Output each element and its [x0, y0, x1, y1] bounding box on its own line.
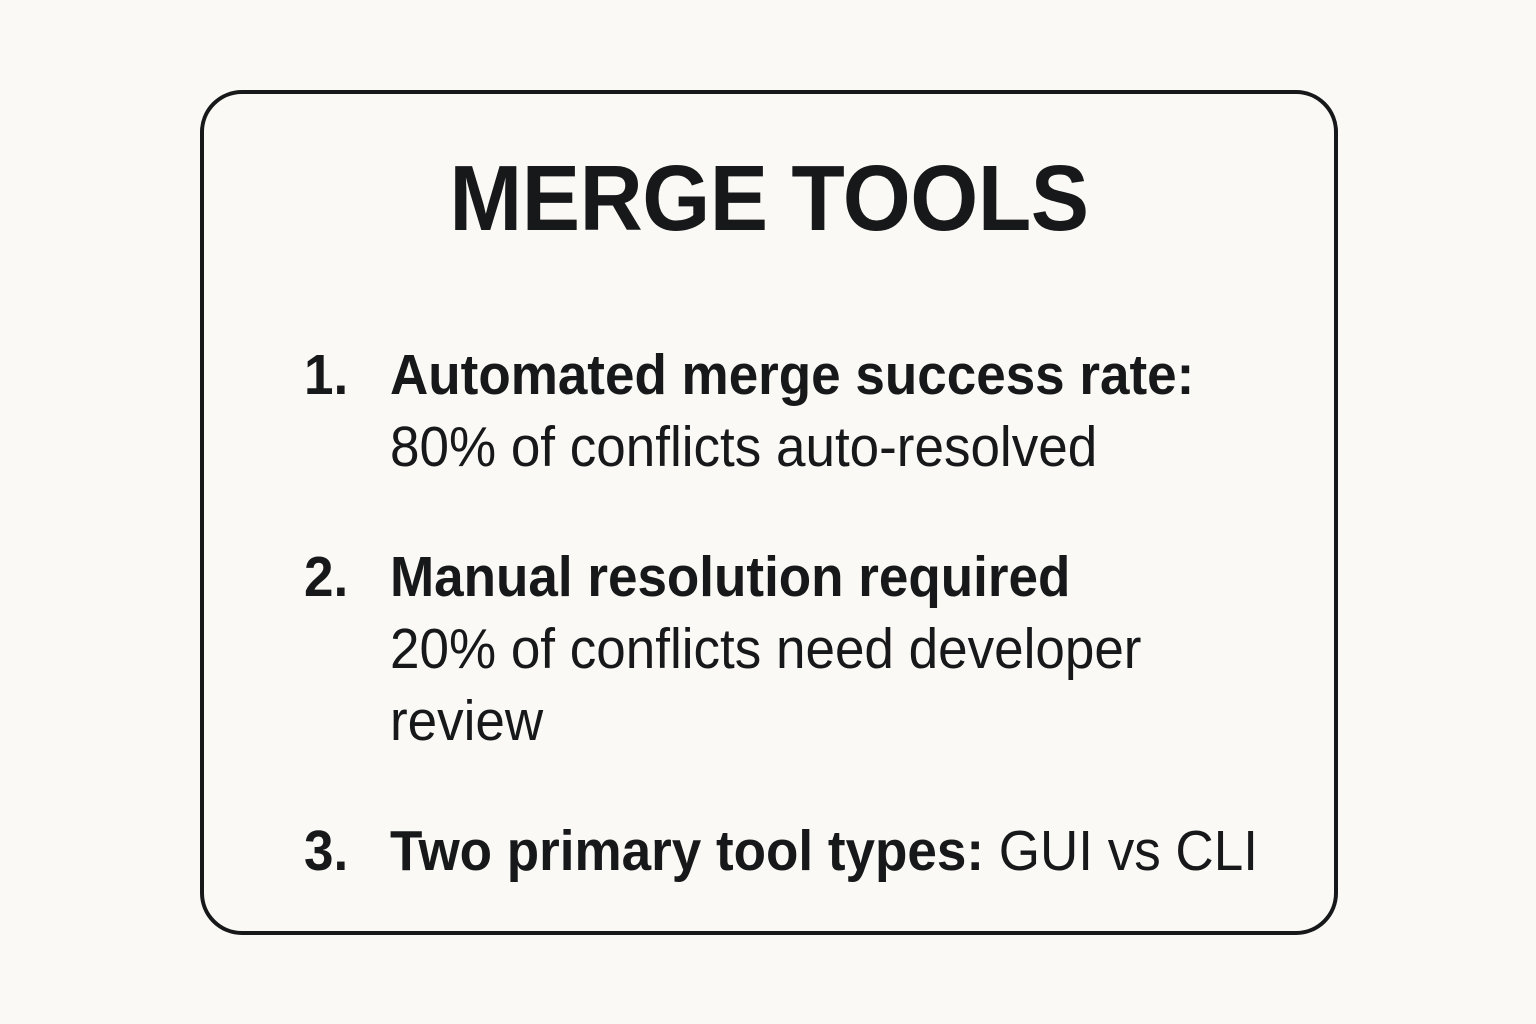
list-item-text: Manual resolution required 20% of confli…: [390, 541, 1304, 757]
list-item-detail: 80% of conflicts auto-resolved: [390, 411, 1304, 483]
list-item-heading: Manual resolution required: [390, 545, 1070, 609]
list-item-body: Two primary tool types: GUI vs CLI: [390, 815, 1304, 887]
list-item-heading: Two primary tool types:: [390, 819, 984, 883]
list-item-text: Automated merge success rate: 80% of con…: [390, 339, 1304, 483]
page-title: MERGE TOOLS: [238, 152, 1300, 245]
content-card: MERGE TOOLS 1. Automated merge success r…: [200, 90, 1338, 935]
list-item-number: 2.: [304, 541, 384, 613]
list-item-text: Two primary tool types: GUI vs CLI: [390, 815, 1304, 887]
slide-canvas: MERGE TOOLS 1. Automated merge success r…: [0, 0, 1536, 1024]
list-item: 1. Automated merge success rate: 80% of …: [304, 339, 1304, 483]
list-item-number: 3.: [304, 815, 384, 887]
list-item: 2. Manual resolution required 20% of con…: [304, 541, 1304, 757]
list-item-heading: Automated merge success rate:: [390, 343, 1194, 407]
list-item-number: 1.: [304, 339, 384, 411]
list-item-detail: GUI vs CLI: [999, 819, 1258, 883]
numbered-list: 1. Automated merge success rate: 80% of …: [304, 339, 1304, 887]
list-item: 3. Two primary tool types: GUI vs CLI: [304, 815, 1304, 887]
list-item-body: Manual resolution required 20% of confli…: [390, 541, 1304, 757]
list-item-body: Automated merge success rate: 80% of con…: [390, 339, 1304, 483]
list-item-detail: 20% of conflicts need developer review: [390, 613, 1304, 757]
